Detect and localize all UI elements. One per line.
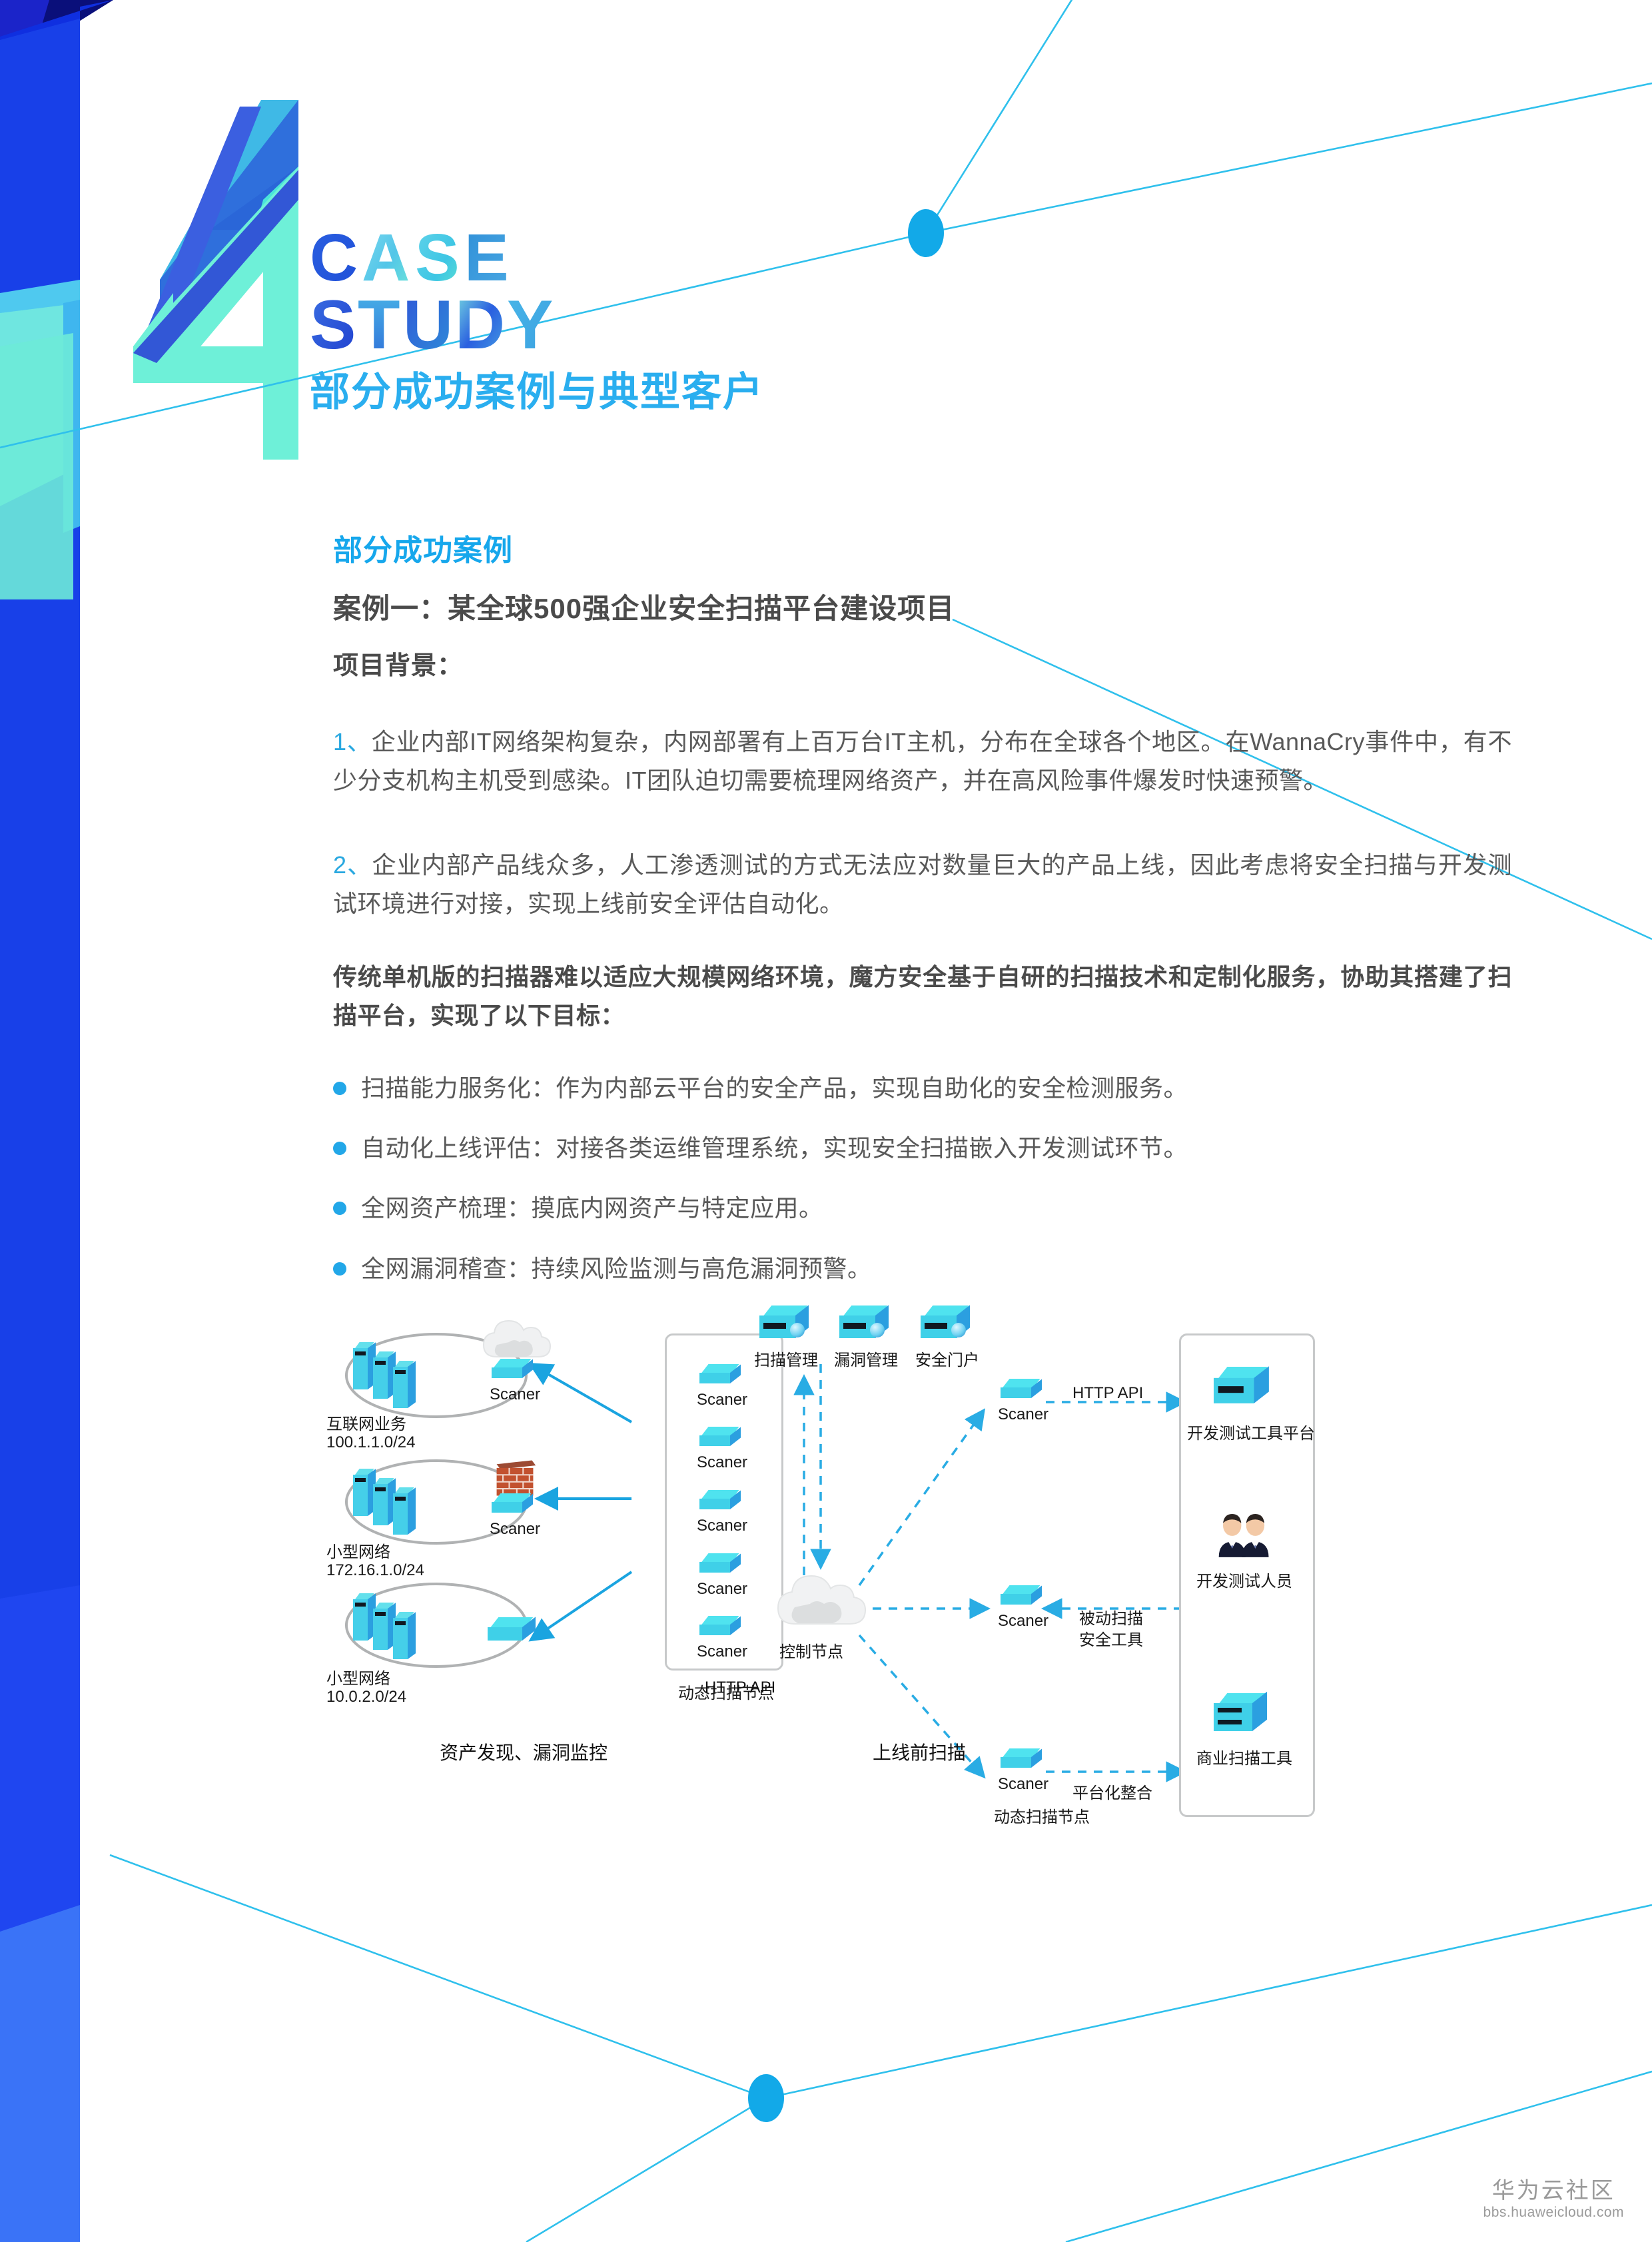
caption-right: 上线前扫描 — [873, 1738, 966, 1765]
http-api-label-left: HTTP API — [705, 1679, 775, 1697]
svg-text:E: E — [464, 223, 510, 295]
title-english: C A S E — [310, 223, 616, 372]
watermark: 华为云社区 bbs.huaweicloud.com — [1483, 2179, 1624, 2221]
firewall-icon — [492, 1457, 538, 1499]
pool-scanner-3-label: Scaner — [697, 1517, 747, 1535]
list-item: 全网资产梳理：摸底内网资产与特定应用。 — [333, 1191, 1519, 1226]
scanner-net2 — [492, 1493, 533, 1519]
right-scanner-3 — [1001, 1748, 1042, 1774]
network-2-cidr: 172.16.1.0/24 — [326, 1561, 424, 1580]
pool-scanner-2-label: Scaner — [697, 1453, 747, 1472]
commercial-scan-tool-icon — [1214, 1693, 1271, 1736]
page-root: C A S E — [0, 0, 1652, 2242]
target-label-dev-platform: 开发测试工具平台 — [1187, 1420, 1315, 1443]
right-scanner-2 — [1001, 1585, 1042, 1611]
link-label-http-api: HTTP API — [1072, 1384, 1143, 1403]
architecture-diagram: Scaner 互联网业务 100.1.1.0/24 — [313, 1306, 1406, 1905]
scanner-net1 — [492, 1359, 533, 1384]
right-scanner-3-label: Scaner — [998, 1775, 1048, 1794]
goals-bullet-list: 扫描能力服务化：作为内部云平台的安全产品，实现自助化的安全检测服务。 自动化上线… — [333, 1071, 1519, 1311]
scanner-net2-label: Scaner — [490, 1520, 540, 1539]
mgmt-label-scan: 扫描管理 — [754, 1347, 818, 1370]
link-pool-to-net1 — [533, 1365, 631, 1422]
svg-text:S: S — [415, 223, 461, 295]
mgmt-server-vuln — [839, 1306, 891, 1343]
page-header: C A S E — [153, 206, 1086, 446]
pool-scanner-4 — [699, 1553, 741, 1579]
link-label-passive-scan-2: 安全工具 — [1079, 1627, 1143, 1650]
pool-scanner-4-label: Scaner — [697, 1580, 747, 1599]
link-pool-to-net3 — [533, 1572, 631, 1639]
pool-scanner-5 — [699, 1616, 741, 1641]
paragraph-2-text: 企业内部产品线众多，人工渗透测试的方式无法应对数量巨大的产品上线，因此考虑将安全… — [333, 851, 1512, 917]
svg-text:U: U — [403, 288, 454, 363]
target-label-commercial-tool: 商业扫描工具 — [1196, 1745, 1292, 1768]
list-item: 全网漏洞稽查：持续风险监测与高危漏洞预警。 — [333, 1252, 1519, 1286]
paragraph-2: 2、企业内部产品线众多，人工渗透测试的方式无法应对数量巨大的产品上线，因此考虑将… — [333, 846, 1512, 924]
link-ctrl-r1 — [859, 1412, 983, 1585]
pool-scanner-2 — [699, 1427, 741, 1452]
mgmt-label-portal: 安全门户 — [915, 1347, 979, 1370]
pool-scanner-5-label: Scaner — [697, 1643, 747, 1661]
link-label-platform-integration: 平台化整合 — [1072, 1780, 1152, 1803]
switch-icon — [488, 1617, 537, 1647]
pool-scanner-1-label: Scaner — [697, 1391, 747, 1409]
watermark-url: bbs.huaweicloud.com — [1483, 2205, 1624, 2221]
right-scanner-2-label: Scaner — [998, 1612, 1048, 1631]
pool-scanner-1 — [699, 1364, 741, 1389]
list-item: 扫描能力服务化：作为内部云平台的安全产品，实现自助化的安全检测服务。 — [333, 1071, 1519, 1106]
mgmt-label-vuln: 漏洞管理 — [834, 1347, 898, 1370]
bold-lead-paragraph: 传统单机版的扫描器难以适应大规模网络环境，魔方安全基于自研的扫描技术和定制化服务… — [333, 958, 1512, 1036]
link-label-passive-scan-1: 被动扫描 — [1079, 1605, 1143, 1629]
svg-text:T: T — [358, 288, 402, 363]
right-scanner-1-label: Scaner — [998, 1405, 1048, 1424]
network-1-name: 互联网业务 — [326, 1411, 406, 1434]
svg-text:C: C — [310, 223, 359, 295]
svg-text:Y: Y — [507, 288, 554, 363]
svg-text:S: S — [310, 288, 357, 363]
scanner-net1-label: Scaner — [490, 1385, 540, 1404]
svg-text:A: A — [362, 223, 411, 295]
target-label-dev-people: 开发测试人员 — [1196, 1568, 1292, 1591]
paragraph-1-number: 1、 — [333, 728, 372, 755]
sub-heading: 项目背景： — [333, 645, 463, 681]
section-heading: 部分成功案例 — [333, 526, 513, 569]
people-icon — [1216, 1513, 1272, 1557]
network-2-name: 小型网络 — [326, 1539, 390, 1562]
paragraph-1: 1、企业内部IT网络架构复杂，内网部署有上百万台IT主机，分布在全球各个地区。在… — [333, 723, 1512, 801]
network-3-cidr: 10.0.2.0/24 — [326, 1688, 406, 1706]
network-1-cidr: 100.1.1.0/24 — [326, 1433, 415, 1452]
watermark-name: 华为云社区 — [1483, 2179, 1624, 2203]
mgmt-server-scan — [759, 1306, 811, 1343]
mgmt-server-portal — [921, 1306, 973, 1343]
paragraph-1-text: 企业内部IT网络架构复杂，内网部署有上百万台IT主机，分布在全球各个地区。在Wa… — [333, 728, 1512, 794]
title-study-word: S T U D Y — [310, 288, 616, 371]
network-3-name: 小型网络 — [326, 1665, 390, 1688]
paragraph-2-number: 2、 — [333, 851, 372, 879]
dev-test-platform-icon — [1214, 1367, 1272, 1409]
page-title-cn: 部分成功案例与典型客户 — [310, 360, 764, 418]
right-pool-label: 动态扫描节点 — [994, 1804, 1090, 1827]
pool-scanner-3 — [699, 1490, 741, 1515]
control-node-label: 控制节点 — [779, 1639, 843, 1662]
right-scanner-1 — [1001, 1379, 1042, 1404]
control-node-cloud-icon — [773, 1569, 866, 1636]
svg-text:D: D — [455, 288, 506, 363]
caption-left: 资产发现、漏洞监控 — [440, 1738, 608, 1765]
list-item: 自动化上线评估：对接各类运维管理系统，实现安全扫描嵌入开发测试环节。 — [333, 1131, 1519, 1166]
case-title: 案例一：某全球500强企业安全扫描平台建设项目 — [333, 586, 955, 627]
